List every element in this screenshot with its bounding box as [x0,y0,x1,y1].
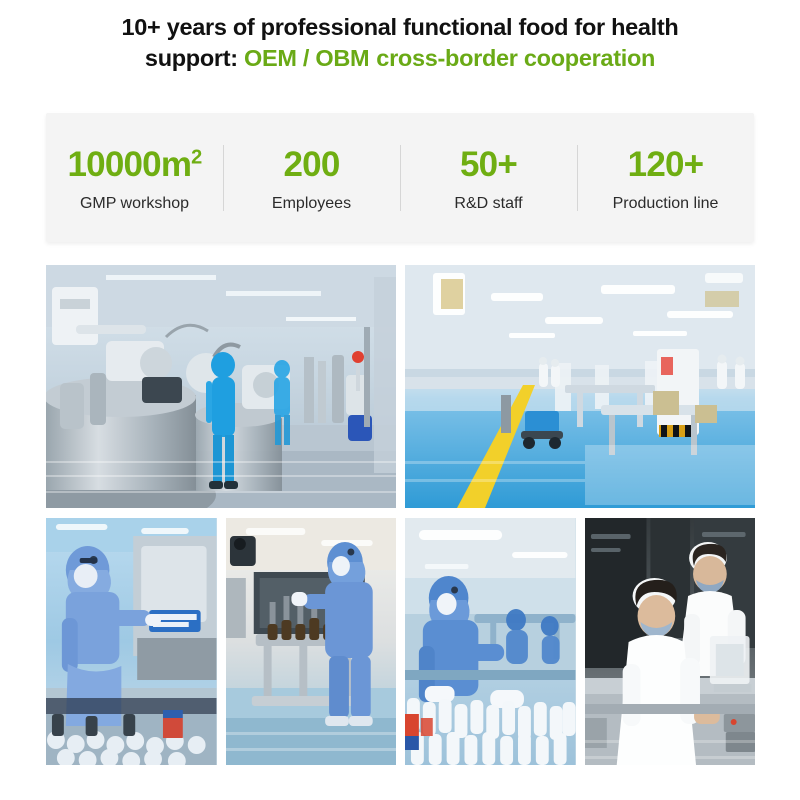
stat-value-employees: 200 [284,145,340,185]
stat-value-rd-staff: 50+ [460,145,517,185]
photo-lab-technicians-white-coats [585,518,756,765]
stat-employees: 200 Employees [223,113,400,242]
stat-rd-staff: 50+ R&D staff [400,113,577,242]
stat-label-employees: Employees [272,194,351,214]
stat-number-rd-staff: 50+ [460,145,517,184]
headline-accent-oem-obm: OEM / OBM [244,45,369,71]
gallery-row-bottom [46,518,755,765]
gallery-row-top [46,265,755,508]
photo-inspection-bottles [405,518,576,765]
page-headline: 10+ years of professional functional foo… [40,12,760,74]
stat-superscript-gmp-workshop: 2 [191,146,201,168]
stat-number-production-line: 120+ [628,145,704,184]
stat-production-line: 120+ Production line [577,113,754,242]
stat-gmp-workshop: 10000m2 GMP workshop [46,113,223,242]
stat-number-gmp-workshop: 10000m [68,145,192,184]
photo-production-hall-blue-floor [405,265,755,508]
stat-label-rd-staff: R&D staff [454,194,522,214]
stat-label-production-line: Production line [613,194,719,214]
stat-label-gmp-workshop: GMP workshop [80,194,189,214]
headline-accent-cooperation: cross-border cooperation [376,45,655,71]
marketing-page: 10+ years of professional functional foo… [0,0,800,800]
headline-prefix: support: [145,45,244,71]
stats-bar: 10000m2 GMP workshop 200 Employees 50+ R… [46,113,754,242]
photo-bottling-machine-operator [226,518,397,765]
stat-value-gmp-workshop: 10000m2 [68,145,202,185]
stat-value-production-line: 120+ [628,145,704,185]
headline-line-1: 10+ years of professional functional foo… [122,14,679,40]
photo-reactor-vessels-cleanroom [46,265,396,508]
stat-number-employees: 200 [284,145,340,184]
photo-worker-filling-line [46,518,217,765]
headline-line-2: support: OEM / OBMcross-border cooperati… [40,43,760,74]
factory-photo-gallery [46,265,755,765]
